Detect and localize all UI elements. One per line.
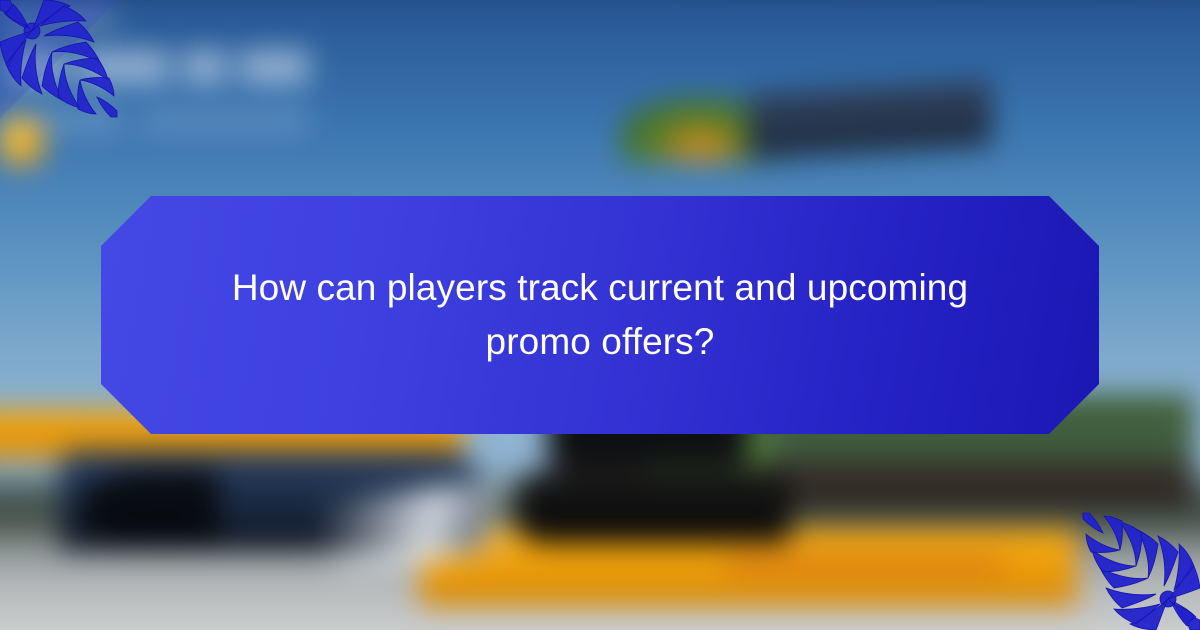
background-race-car-second [515, 469, 791, 543]
blurred-heading-text [182, 49, 227, 85]
background-grandstand [748, 80, 992, 159]
background-kerb-stripe [727, 560, 1003, 568]
blurred-subheading-text [140, 110, 310, 129]
share-card-canvas: How can players track current and upcomi… [0, 0, 1200, 630]
trophy-icon [0, 117, 45, 166]
blurred-heading-text [78, 49, 169, 85]
question-banner: How can players track current and upcomi… [101, 196, 1099, 434]
question-title: How can players track current and upcomi… [187, 261, 1013, 368]
blurred-heading-text [9, 49, 66, 85]
blurred-heading-text [240, 49, 310, 85]
background-race-car-nose [81, 469, 219, 543]
blurred-eyebrow-text [11, 11, 39, 28]
blurred-eyebrow-text [49, 11, 115, 26]
